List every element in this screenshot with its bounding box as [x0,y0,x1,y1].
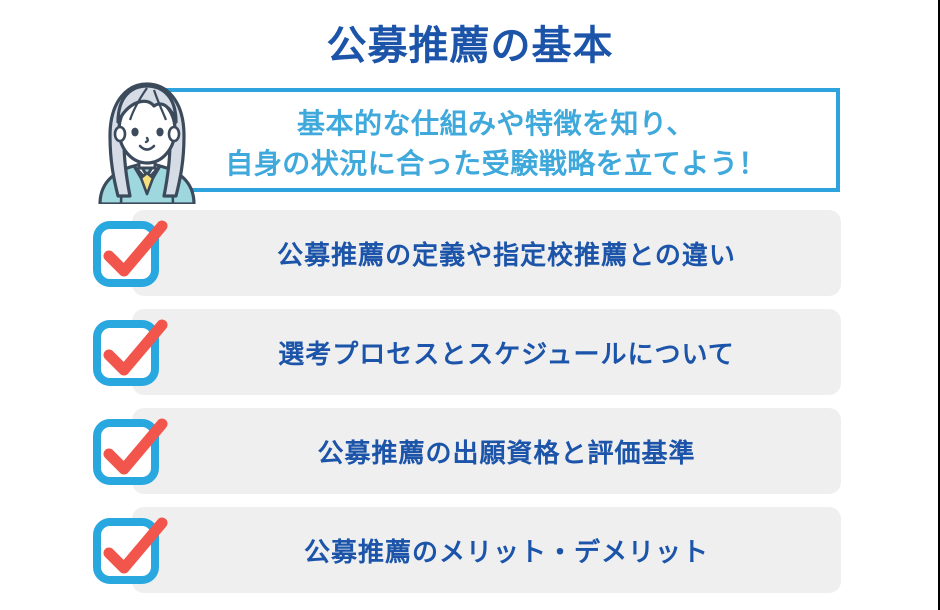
slide-canvas: 公募推薦の基本 基本的な仕組みや特徴を知り、 自身の状況に合った受験戦略を立てよ… [0,0,940,610]
checkbox-checked-icon[interactable] [92,515,170,587]
checklist-item-label: 公募推薦の出願資格と評価基準 [132,408,841,494]
checklist-item[interactable]: 公募推薦の定義や指定校推薦との違い [0,210,940,296]
checklist-item-label: 公募推薦のメリット・デメリット [132,507,841,593]
checklist-item-label: 公募推薦の定義や指定校推薦との違い [132,210,841,296]
checklist-item[interactable]: 選考プロセスとスケジュールについて [0,309,940,395]
checklist: 公募推薦の定義や指定校推薦との違い 選考プロセスとスケジュールについて [0,210,940,606]
checklist-item[interactable]: 公募推薦の出願資格と評価基準 [0,408,940,494]
checklist-item-label: 選考プロセスとスケジュールについて [132,309,841,395]
checklist-item[interactable]: 公募推薦のメリット・デメリット [0,507,940,593]
subtitle-callout-box [152,88,840,192]
checkbox-checked-icon[interactable] [92,416,170,488]
checkbox-checked-icon[interactable] [92,317,170,389]
checkbox-checked-icon[interactable] [92,218,170,290]
female-student-illustration [84,76,210,204]
page-title: 公募推薦の基本 [0,24,940,68]
